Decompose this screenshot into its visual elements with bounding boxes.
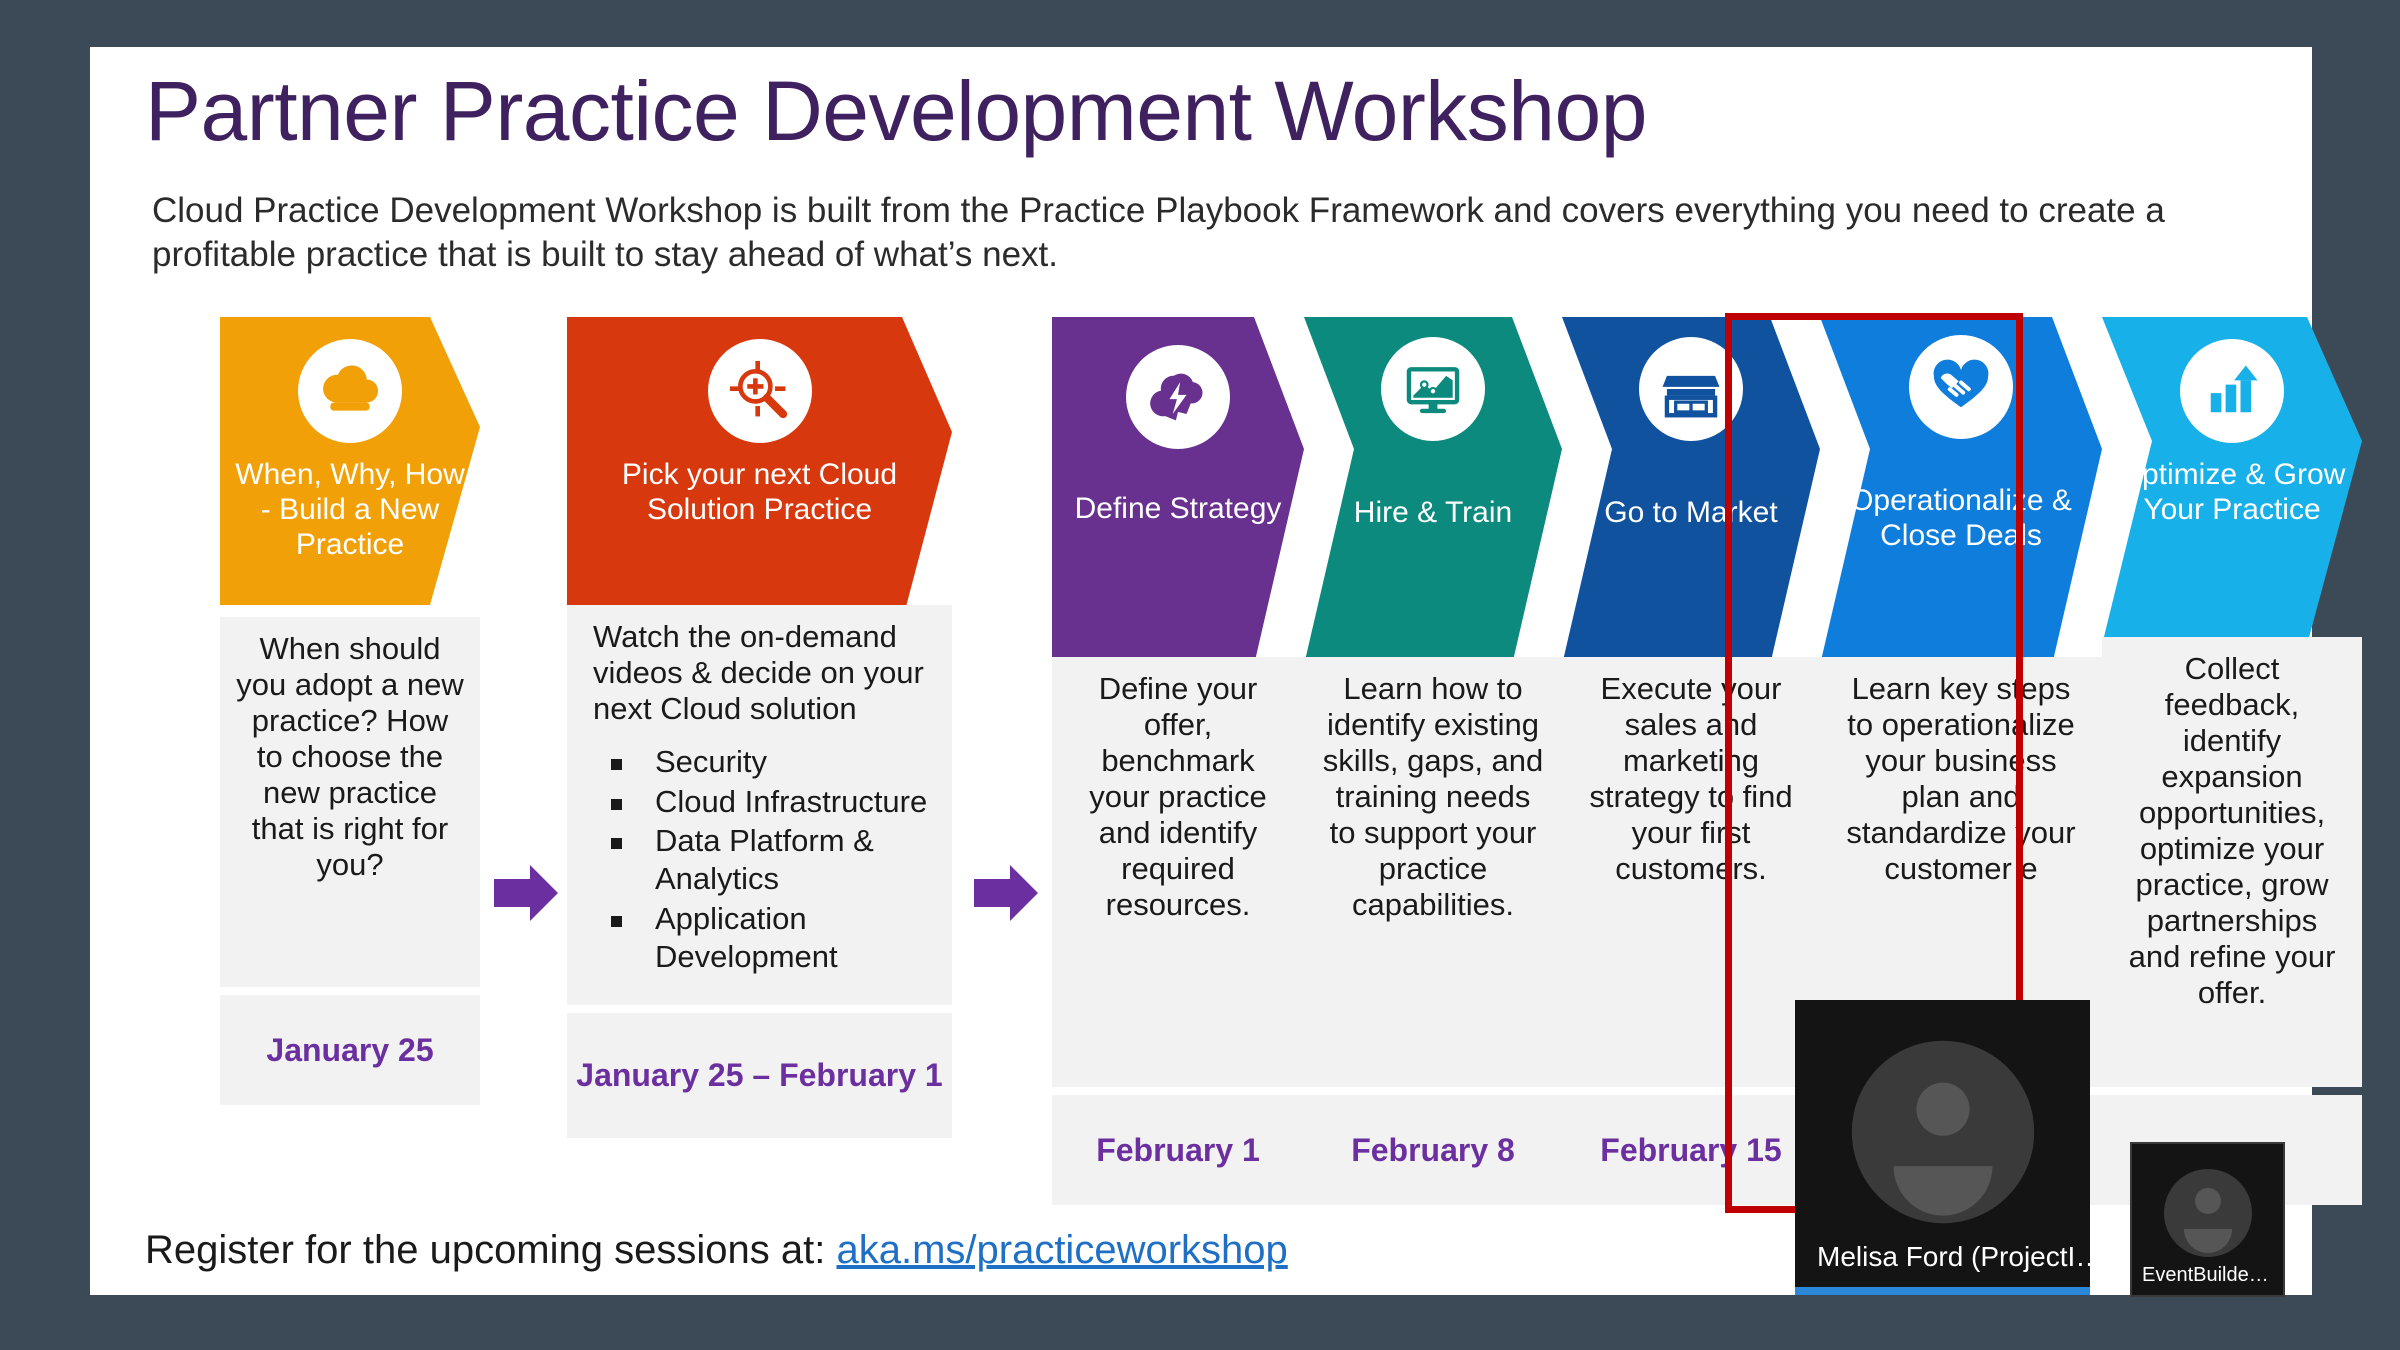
cloud-icon [298,339,402,443]
list-item: Cloud Infrastructure [593,783,936,821]
stage-body-go-to-market: Execute your sales and marketing strateg… [1562,657,1820,1087]
stage-body-optimize-grow-practice: Collect feedback, identify expansion opp… [2102,637,2362,1087]
stage-date-text: February 1 [1096,1131,1260,1169]
stage-column-define-strategy[interactable]: Define Strategy Define your offer, bench… [1052,317,1304,1227]
stage-label: Hire & Train [1340,495,1526,530]
stage-label: When, Why, How - Build a New Practice [220,457,480,562]
practice-workshop-link[interactable]: aka.ms/practiceworkshop [836,1228,1287,1272]
stage-date-text: January 25 [266,1031,433,1069]
stage-banner-optimize-grow-practice: Optimize & Grow Your Practice [2102,317,2362,645]
storefront-icon [1639,337,1743,441]
arrow-connector-2 [970,857,1042,934]
stage-date-text: January 25 – February 1 [576,1056,942,1094]
stage-label: Define Strategy [1061,491,1296,526]
arrow-connector-1 [490,857,562,934]
bar-chart-arrow-icon [2180,339,2284,443]
stage-column-hire-and-train[interactable]: Hire & Train Learn how to identify exist… [1304,317,1562,1227]
video-tile-eventbuilder[interactable]: EventBuilde… [2130,1142,2285,1297]
stage-body-pick-next-cloud-solution-practice: Watch the on-demand videos & decide on y… [567,605,952,1005]
stage-column-pick-next-cloud-solution-practice[interactable]: Pick your next Cloud Solution Practice W… [567,317,952,1227]
stage-body-text: Learn key steps to operationalize your b… [1836,671,2086,887]
stage-body-when-why-how: When should you adopt a new practice? Ho… [220,617,480,987]
stage-date-when-why-how: January 25 [220,995,480,1105]
participant-name: Melisa Ford (ProjectI… [1795,1241,2090,1273]
stage-date-define-strategy: February 1 [1052,1095,1304,1205]
handshake-heart-icon [1909,335,2013,439]
footer-text: Register for the upcoming sessions at: [145,1228,825,1272]
page-title: Partner Practice Development Workshop [145,67,1647,155]
stage-banner-operationalize-close-deals: Operationalize & Close Deals [1820,317,2102,665]
person-avatar-icon [2158,1163,2258,1263]
slide-subtitle: Cloud Practice Development Workshop is b… [152,189,2272,277]
stage-label: Optimize & Grow Your Practice [2102,457,2362,527]
stage-date-pick-next-cloud-solution-practice: January 25 – February 1 [567,1013,952,1138]
brain-lightning-icon [1126,345,1230,449]
stage-label: Pick your next Cloud Solution Practice [567,457,952,527]
stage-body-text: Define your offer, benchmark your practi… [1068,671,1288,923]
stage-body-text: Execute your sales and marketing strateg… [1578,671,1804,887]
stage-body-text: Collect feedback, identify expansion opp… [2118,651,2346,1011]
participant-name: EventBuilde… [2132,1264,2283,1287]
stage-body-define-strategy: Define your offer, benchmark your practi… [1052,657,1304,1087]
stage-column-when-why-how[interactable]: When, Why, How - Build a New Practice Wh… [220,317,480,1227]
stage-date-hire-and-train: February 8 [1304,1095,1562,1205]
stage-body-text: Learn how to identify existing skills, g… [1320,671,1546,923]
video-tile-melisa-ford[interactable]: Melisa Ford (ProjectI… [1795,1000,2090,1295]
stage-banner-define-strategy: Define Strategy [1052,317,1304,665]
stage-column-optimize-grow-practice[interactable]: Optimize & Grow Your Practice Collect fe… [2102,317,2362,1227]
stage-banner-go-to-market: Go to Market [1562,317,1820,665]
monitor-chart-icon [1381,337,1485,441]
stage-banner-when-why-how: When, Why, How - Build a New Practice [220,317,480,605]
list-item: Application Development [593,900,936,976]
stage-date-text: February 8 [1351,1131,1515,1169]
stage-label: Operationalize & Close Deals [1820,483,2102,553]
stage-body-text: When should you adopt a new practice? Ho… [236,631,464,883]
stage-label: Go to Market [1590,495,1791,530]
list-item: Data Platform & Analytics [593,822,936,898]
stage-body-hire-and-train: Learn how to identify existing skills, g… [1304,657,1562,1087]
person-avatar-icon [1848,1037,2038,1227]
list-item: Security [593,743,936,781]
stage-bullet-list: Security Cloud Infrastructure Data Platf… [593,743,936,976]
stage-column-go-to-market[interactable]: Go to Market Execute your sales and mark… [1562,317,1820,1227]
stage-date-text: February 15 [1600,1131,1781,1169]
stage-body-text: Watch the on-demand videos & decide on y… [593,619,936,727]
stage-banner-pick-next-cloud-solution-practice: Pick your next Cloud Solution Practice [567,317,952,622]
footer-register-line: Register for the upcoming sessions at: a… [145,1228,1288,1273]
stage-date-go-to-market: February 15 [1562,1095,1820,1205]
target-search-icon [708,339,812,443]
stage-banner-hire-and-train: Hire & Train [1304,317,1562,665]
meeting-screen-share-view: Partner Practice Development Workshop Cl… [0,0,2400,1350]
